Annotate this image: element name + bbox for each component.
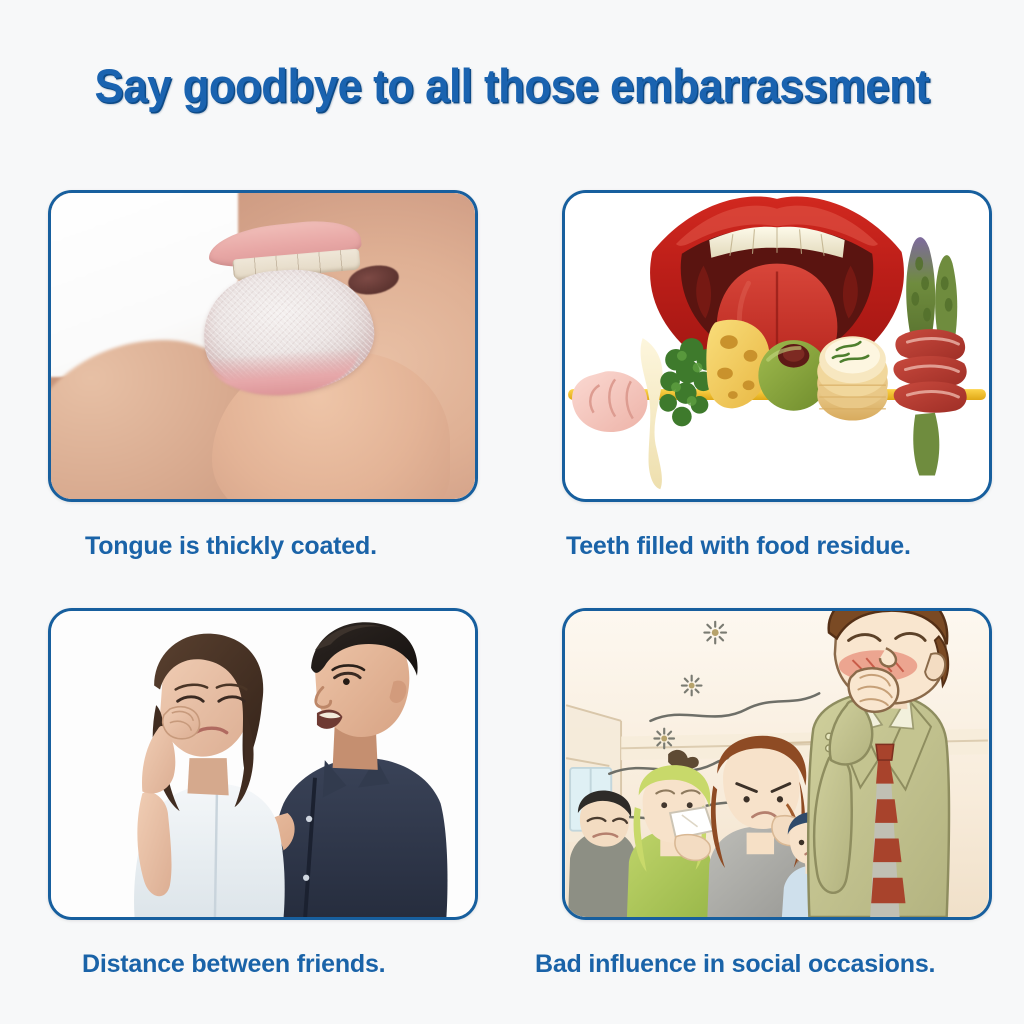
mouth-food-skewer-illustration [565, 193, 989, 499]
card-social[interactable] [562, 608, 992, 920]
card-teeth[interactable] [562, 190, 992, 502]
caption-social: Bad influence in social occasions. [535, 950, 935, 979]
card-friends[interactable] [48, 608, 478, 920]
coated-tongue-photo [51, 193, 475, 499]
card-tongue[interactable] [48, 190, 478, 502]
caption-friends: Distance between friends. [82, 950, 385, 979]
caption-teeth: Teeth filled with food residue. [566, 532, 911, 561]
page-title: Say goodbye to all those embarrassment [36, 58, 988, 113]
crowd-bad-breath-cartoon [565, 611, 989, 917]
caption-tongue: Tongue is thickly coated. [85, 532, 377, 561]
couple-bad-breath-photo [51, 611, 475, 917]
